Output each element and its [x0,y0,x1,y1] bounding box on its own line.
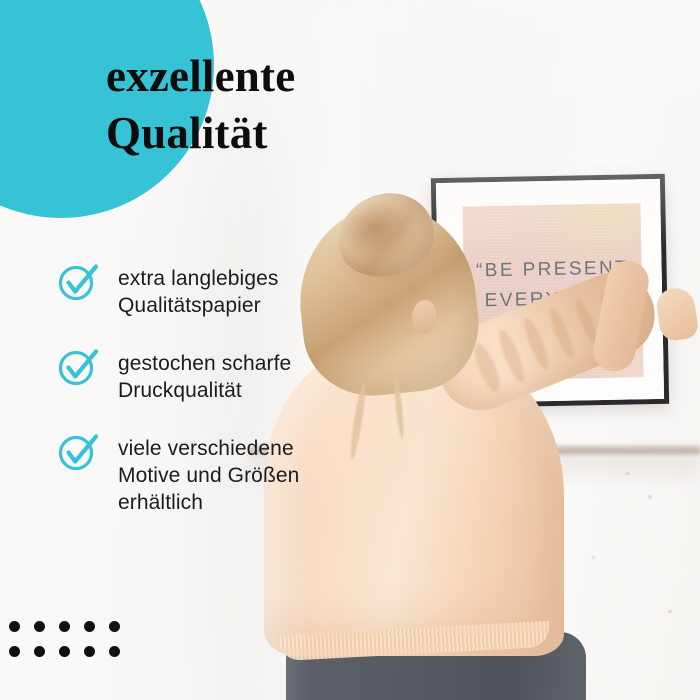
dot [109,646,120,657]
arm-fold [520,315,553,372]
feature-item: extra langlebiges Qualitätspapier [56,262,386,319]
page-title: exzellente Qualität [106,48,506,162]
promo-graphic: “BE PRESENT EVERY DAY” [0,0,700,700]
feature-item: gestochen scharfe Druckqualität [56,347,386,404]
wall-speck [648,495,652,499]
feature-item-label: extra langlebiges Qualitätspapier [118,262,278,319]
dot [34,621,45,632]
dot [84,621,95,632]
feature-item-label: gestochen scharfe Druckqualität [118,347,291,404]
feature-item-label: viele verschiedene Motive und Größen erh… [118,432,299,516]
feature-item: viele verschiedene Motive und Größen erh… [56,432,386,516]
dot [59,621,70,632]
feature-list: extra langlebiges Qualitätspapier gestoc… [56,262,386,516]
dot [109,621,120,632]
arm-fold [546,305,577,360]
dot [9,646,20,657]
dot [34,646,45,657]
wall-speck [668,610,672,613]
arm-fold [495,327,529,384]
decorative-dot-grid [9,621,134,671]
check-circle-icon [56,344,100,388]
check-circle-icon [56,259,100,303]
dot [84,646,95,657]
dot [59,646,70,657]
arm-fold [470,341,504,395]
dot [9,621,20,632]
check-circle-icon [56,429,100,473]
